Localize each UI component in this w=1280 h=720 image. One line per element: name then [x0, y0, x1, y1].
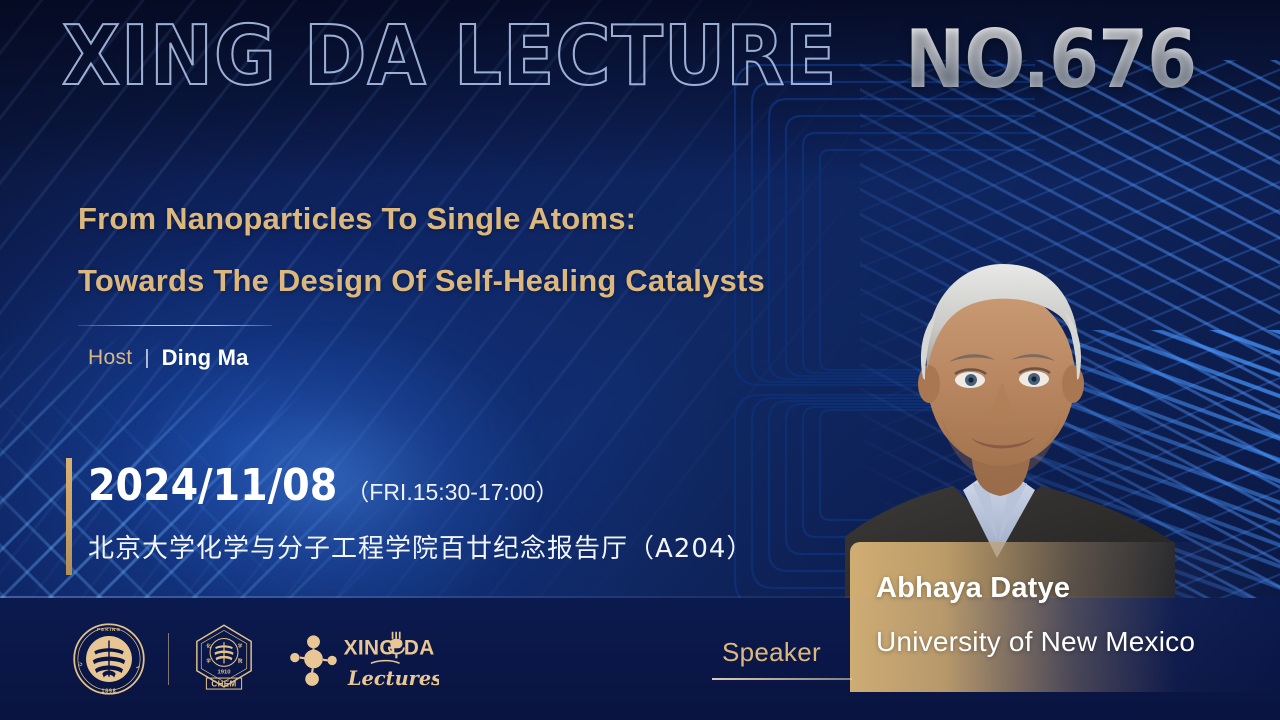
speaker-label: Speaker	[722, 637, 821, 668]
speaker-label-underline	[712, 678, 852, 680]
host-separator: |	[144, 347, 149, 370]
schedule-accent-bar	[66, 458, 72, 575]
event-time: （FRI.15:30-17:00）	[346, 473, 558, 507]
event-venue: 北京大学化学与分子工程学院百廿纪念报告厅（A204）	[88, 528, 753, 565]
svg-text:学: 学	[238, 642, 243, 649]
footer-logos: PEKING 1898 U Y 化 学 学 院	[72, 622, 439, 696]
talk-title: From Nanoparticles To Single Atoms: Towa…	[78, 188, 938, 312]
svg-text:CHEM: CHEM	[211, 680, 236, 689]
svg-text:化: 化	[206, 642, 211, 649]
svg-text:1898: 1898	[101, 688, 116, 694]
pku-chemistry-logo-icon: 化 学 学 院 1910 CHEM	[191, 622, 257, 696]
event-date: 2024/11/08	[88, 460, 337, 511]
speaker-info-panel	[850, 542, 1280, 692]
talk-title-line-1: From Nanoparticles To Single Atoms:	[78, 188, 938, 250]
schedule-date-row: 2024/11/08 （FRI.15:30-17:00）	[88, 460, 558, 511]
host-label: Host	[88, 346, 132, 370]
logo-divider	[168, 633, 169, 685]
lecture-number: NO.676	[905, 20, 1196, 100]
speaker-affiliation: University of New Mexico	[876, 626, 1195, 658]
svg-text:1910: 1910	[217, 670, 231, 676]
svg-text:院: 院	[238, 658, 243, 665]
host-name: Ding Ma	[162, 345, 249, 371]
svg-text:DA: DA	[404, 637, 435, 660]
lecture-poster: XING DA LECTURE NO.676 From Nanoparticle…	[0, 0, 1280, 720]
lecture-series-title: XING DA LECTURE	[62, 16, 838, 98]
xingda-lectureship-logo-icon: XING DA Lectureship	[287, 626, 439, 692]
svg-text:Lectureship: Lectureship	[347, 667, 439, 690]
svg-text:PEKING: PEKING	[97, 627, 121, 633]
svg-text:U: U	[78, 661, 85, 667]
poster-header: XING DA LECTURE NO.676	[0, 0, 1280, 130]
title-divider	[78, 325, 272, 326]
svg-text:学: 学	[206, 658, 211, 665]
host-row: Host | Ding Ma	[88, 345, 249, 371]
peking-university-seal-icon: PEKING 1898 U Y	[72, 622, 146, 696]
talk-title-line-2: Towards The Design Of Self-Healing Catal…	[78, 250, 938, 312]
speaker-name: Abhaya Datye	[876, 572, 1070, 605]
